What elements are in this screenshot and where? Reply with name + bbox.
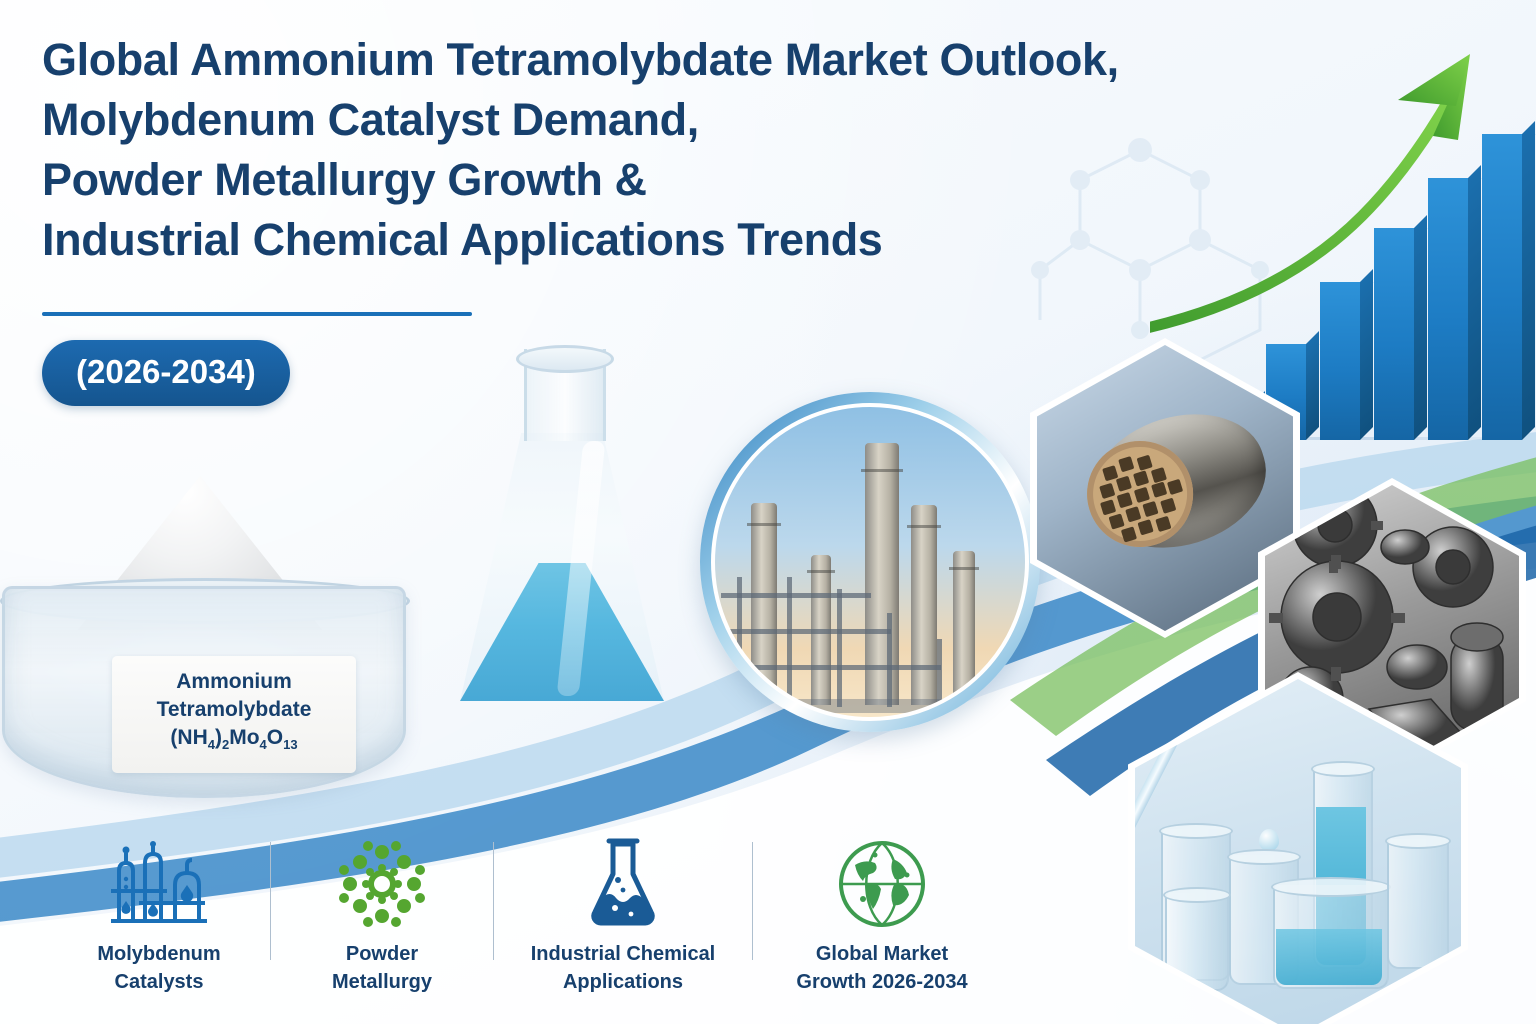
refinery-photo [711,403,1029,721]
page-title: Global Ammonium Tetramolybdate Market Ou… [42,30,1062,270]
refinery-towers-icon [105,836,213,932]
honeycomb-cylinder [1076,394,1282,568]
beaker-right-rim [1385,833,1451,849]
title-line-1: Global Ammonium Tetramolybdate Market Ou… [42,30,1062,90]
chart-bar-7 [1482,134,1522,440]
feature-2-line-1: Industrial Chemical [531,940,716,968]
product-name-line-2: Tetramolybdate [118,696,350,724]
beaker-back-left-rim [1159,823,1233,839]
feature-0-line-2: Catalysts [97,968,220,996]
erlenmeyer-flask-image [452,345,672,745]
feature-global-market-growth[interactable]: Global Market Growth 2026-2034 [767,836,997,996]
feature-3-line-2: Growth 2026-2034 [796,968,967,996]
liquid-droplet [1259,829,1279,851]
title-line-3: Powder Metallurgy Growth & [42,150,1062,210]
beaker-front-liquid [1276,929,1382,985]
feature-0-line-1: Molybdenum [97,940,220,968]
title-divider [42,312,472,316]
tube-front-left-rim [1163,887,1231,903]
feature-1-line-1: Powder [332,940,432,968]
feature-label-molybdenum-catalysts: Molybdenum Catalysts [97,940,220,996]
feature-label-global-market-growth: Global Market Growth 2026-2034 [796,940,967,996]
tube-front-left [1165,893,1229,991]
feature-industrial-chemical-applications[interactable]: Industrial Chemical Applications [508,836,738,996]
powder-particles-icon [336,836,428,932]
chart-bar-4 [1320,282,1360,440]
product-name-line-1: Ammonium [118,668,350,696]
product-label: Ammonium Tetramolybdate (NH4)2Mo4O13 [112,656,356,773]
infographic-canvas: Global Ammonium Tetramolybdate Market Ou… [0,0,1536,1024]
feature-row: Molybdenum Catalysts [62,836,997,996]
globe-icon [837,836,927,932]
feature-2-line-2: Applications [531,968,716,996]
product-formula: (NH4)2Mo4O13 [118,724,350,759]
refinery-circle-image [700,392,1040,732]
honeycomb-face [1074,428,1206,560]
flask-icon [585,836,661,932]
catalyst-photo [1037,345,1293,631]
flask-lip [516,345,614,373]
feature-divider-2 [493,842,494,960]
chart-bar-6 [1428,178,1468,440]
test-tube-tall-rim [1311,761,1375,777]
feature-label-industrial-chemical-applications: Industrial Chemical Applications [531,940,716,996]
title-line-2: Molybdenum Catalyst Demand, [42,90,1062,150]
feature-molybdenum-catalysts[interactable]: Molybdenum Catalysts [62,836,256,996]
chart-bar-5 [1374,228,1414,440]
date-range-badge: (2026-2034) [42,340,290,406]
cylinder-mid-rim [1227,849,1301,865]
feature-label-powder-metallurgy: Powder Metallurgy [332,940,432,996]
feature-divider-1 [270,842,271,960]
title-line-4: Industrial Chemical Applications Trends [42,210,1062,270]
feature-1-line-2: Metallurgy [332,968,432,996]
beaker-front-rim [1271,877,1391,897]
feature-3-line-1: Global Market [796,940,967,968]
feature-powder-metallurgy[interactable]: Powder Metallurgy [285,836,479,996]
feature-divider-3 [752,842,753,960]
beaker-right [1387,839,1449,969]
